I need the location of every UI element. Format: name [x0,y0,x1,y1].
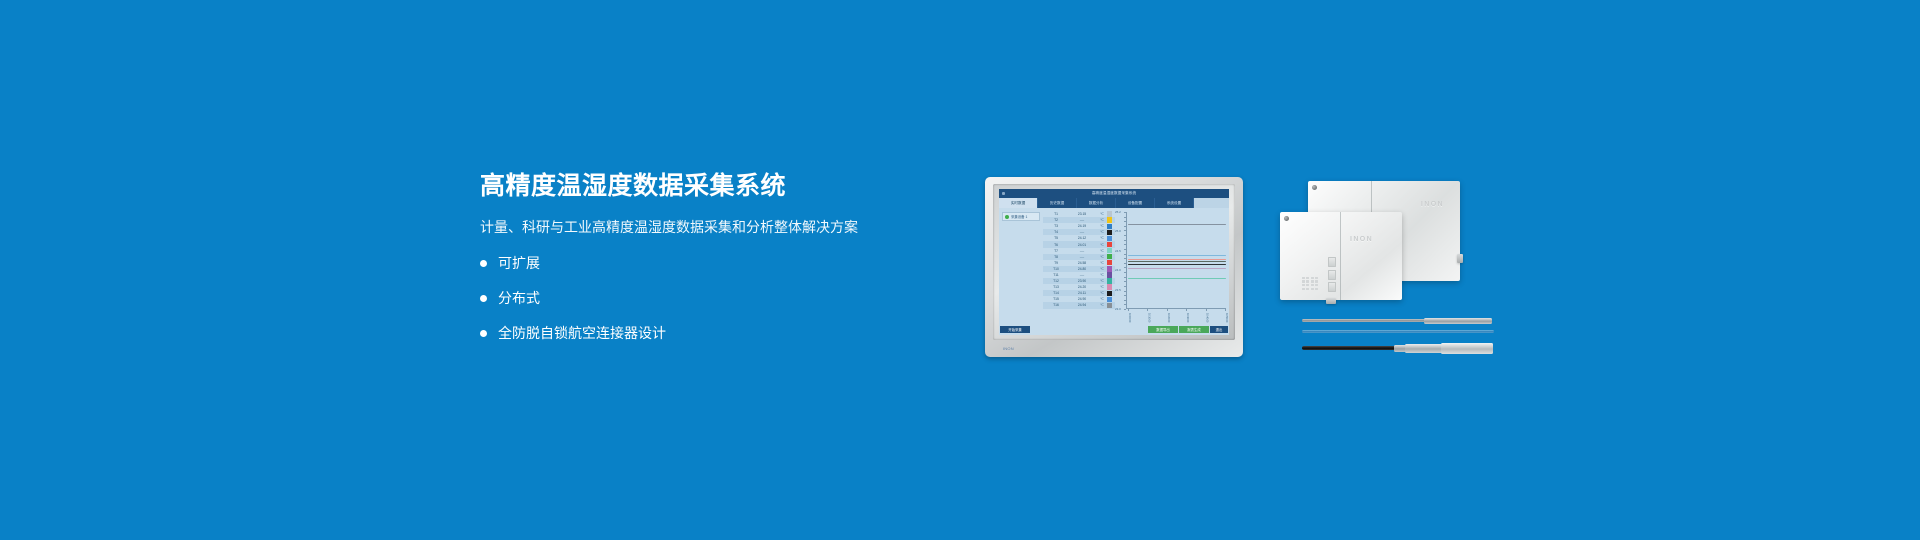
cell-value: 24.11 [1067,291,1097,295]
screw-icon [1312,185,1317,190]
connector-block [1328,270,1336,280]
series-color-swatch [1107,284,1112,289]
chart-y-tick-label: 25.2 [1115,210,1121,214]
series-color-swatch [1107,291,1112,296]
cell-channel: T9 [1045,261,1067,265]
tab-device-config[interactable]: 设备配置 [1116,198,1155,208]
cell-value: 24.94 [1067,303,1097,307]
vent-cell [1302,284,1305,286]
cell-value: 24.12 [1067,236,1097,240]
monitor-foot: INON [995,343,1233,354]
app-titlebar: 高精度温湿度数据采集系统 [999,189,1229,198]
vent-cell [1315,280,1318,282]
cell-unit: ℃ [1097,273,1107,277]
probe-connector [1405,344,1443,353]
cell-unit: ℃ [1097,243,1107,247]
tab-realtime-data[interactable]: 实时数据 [999,198,1038,208]
brand-logo: INON [1003,346,1014,351]
device-tree-panel: 采集设备 1 [999,208,1043,324]
series-color-swatch [1107,217,1112,222]
probe-cable [1302,346,1398,350]
cell-unit: ℃ [1097,236,1107,240]
probe-cable [1302,319,1430,322]
chart-y-tick-label: 24.0 [1115,268,1121,272]
tab-label: 数据分析 [1089,201,1103,206]
cell-unit: ℃ [1097,249,1107,253]
generate-report-button[interactable]: 报表生成 [1179,326,1209,334]
cell-value: 24.19 [1067,224,1097,228]
cell-value: ---- [1067,255,1097,259]
chart-y-axis [1126,212,1127,309]
cell-value: 23.90 [1067,279,1097,283]
app-footer: 开始采集 数据导出 报表生成 退出 [999,324,1229,335]
cell-channel: T8 [1045,255,1067,259]
page-title: 高精度温湿度数据采集系统 [480,173,950,201]
chart-series-line [1128,268,1226,269]
chart-y-tick-mark [1124,304,1127,305]
probe-tip [1424,318,1492,324]
screw-icon [1284,216,1289,221]
cell-unit: ℃ [1097,230,1107,234]
chart-x-tick-mark [1167,309,1168,311]
cell-unit: ℃ [1097,285,1107,289]
chart-y-tick-mark [1124,235,1127,236]
chart-x-tick-mark [1186,309,1187,311]
module-brand-label: INON [1421,201,1444,208]
vent-cell [1311,288,1314,290]
cell-unit: ℃ [1097,297,1107,301]
cell-channel: T16 [1045,303,1067,307]
cell-unit: ℃ [1097,291,1107,295]
cell-channel: T14 [1045,291,1067,295]
button-label: 开始采集 [1008,327,1022,332]
module-connector-port [1326,298,1336,304]
cell-unit: ℃ [1097,303,1107,307]
cell-channel: T4 [1045,230,1067,234]
probe-black [1302,342,1494,354]
panel-pc-product-image: 高精度温湿度数据采集系统 实时数据 历史数据 数据分析 设备配置 [985,177,1243,357]
chart-y-tick-mark [1124,244,1127,245]
app-body: 采集设备 1 T123.15℃T2----℃T324.19℃T4----℃T52… [999,208,1229,324]
chart-y-tick-mark [1124,277,1127,278]
cell-channel: T7 [1045,249,1067,253]
chart-y-tick-label: 24.5 [1115,249,1121,253]
chart-series-line [1128,259,1226,260]
bullet-dot-icon [480,330,487,337]
cell-channel: T5 [1045,236,1067,240]
vent-cell [1311,284,1314,286]
feature-item-0: 可扩展 [480,255,950,272]
cell-channel: T12 [1045,279,1067,283]
export-data-button[interactable]: 数据导出 [1148,326,1178,334]
chart-y-tick-mark [1124,291,1127,292]
chart-x-tick-mark [1225,309,1226,311]
feature-label: 全防脱自锁航空连接器设计 [498,325,666,342]
vent-cell [1315,277,1318,279]
vent-cell [1302,288,1305,290]
probe-housing [1441,343,1493,354]
chart-y-tick-mark [1124,263,1127,264]
tab-label: 实时数据 [1011,201,1025,206]
feature-item-1: 分布式 [480,290,950,307]
series-color-swatch [1107,278,1112,283]
probe-cable [1302,330,1494,333]
tab-label: 历史数据 [1050,201,1064,206]
feature-label: 分布式 [498,290,540,307]
connector-block [1328,282,1336,292]
connector-column [1328,257,1336,292]
button-label: 退出 [1216,327,1223,332]
vent-cell [1315,288,1318,290]
probe-thin-cable [1302,330,1494,334]
series-color-swatch [1107,303,1112,308]
tab-data-analysis[interactable]: 数据分析 [1077,198,1116,208]
cell-channel: T2 [1045,218,1067,222]
cell-unit: ℃ [1097,261,1107,265]
cell-channel: T15 [1045,297,1067,301]
tab-label: 系统设置 [1167,201,1181,206]
vent-cell [1311,277,1314,279]
series-color-swatch [1107,242,1112,247]
app-title: 高精度温湿度数据采集系统 [1092,191,1136,196]
device-tree-item[interactable]: 采集设备 1 [1002,212,1040,221]
cell-unit: ℃ [1097,267,1107,271]
series-color-swatch [1107,266,1112,271]
cell-channel: T11 [1045,273,1067,277]
cell-channel: T1 [1045,212,1067,216]
cell-unit: ℃ [1097,224,1107,228]
series-color-swatch [1107,211,1112,216]
monitor-screen: 高精度温湿度数据采集系统 实时数据 历史数据 数据分析 设备配置 [999,189,1229,335]
page-subtitle: 计量、科研与工业高精度温湿度数据采集和分析整体解决方案 [480,218,950,237]
cell-value: ---- [1067,273,1097,277]
chart-y-tick-mark [1124,249,1127,250]
feature-item-2: 全防脱自锁航空连接器设计 [480,325,950,342]
chart-y-tick-mark [1124,295,1127,296]
app-menu-icon [1002,192,1005,195]
cell-value: 24.58 [1067,261,1097,265]
vent-cell [1311,280,1314,282]
cell-value: 24.20 [1067,285,1097,289]
chart-y-tick-mark [1124,267,1127,268]
tab-history-data[interactable]: 历史数据 [1038,198,1077,208]
chart-x-tick-label: 10:40:00 [1206,313,1210,322]
monitor-bezel: 高精度温湿度数据采集系统 实时数据 历史数据 数据分析 设备配置 [993,184,1235,340]
vent-cell [1306,277,1309,279]
connector-block [1328,257,1336,267]
series-color-swatch [1107,248,1112,253]
vent-cell [1306,284,1309,286]
series-color-swatch [1107,254,1112,259]
chart-x-tick-label: 10:30:00 [1186,313,1190,322]
chart-x-tick-label: 10:00:00 [1128,313,1132,322]
tab-label: 设备配置 [1128,201,1142,206]
cell-value: 24.01 [1067,243,1097,247]
chart-y-tick-label: 23.5 [1115,288,1121,292]
series-color-swatch [1107,224,1112,229]
chart-y-tick-label: 25.0 [1115,229,1121,233]
button-label: 数据导出 [1156,327,1170,332]
vent-grid [1302,277,1318,290]
chart-x-tick-label: 10:20:00 [1167,313,1171,322]
button-label: 报表生成 [1187,327,1201,332]
cell-value: ---- [1067,249,1097,253]
chart-y-tick-mark [1124,300,1127,301]
cell-channel: T13 [1045,285,1067,289]
device-tree-label: 采集设备 1 [1011,214,1027,219]
chart-y-tick-mark [1124,254,1127,255]
bullet-dot-icon [480,295,487,302]
tabbar-filler [1194,198,1229,208]
series-color-swatch [1107,230,1112,235]
chart-x-tick-mark [1128,309,1129,311]
tab-system-settings[interactable]: 系统设置 [1155,198,1194,208]
series-color-swatch [1107,272,1112,277]
cell-channel: T3 [1045,224,1067,228]
cell-unit: ℃ [1097,279,1107,283]
expansion-module: INON [1280,212,1402,300]
start-capture-button[interactable]: 开始采集 [1000,326,1030,334]
module-connector-port [1457,254,1463,263]
chart-y-tick-mark [1124,258,1127,259]
cell-value: 24.80 [1067,267,1097,271]
cell-unit: ℃ [1097,218,1107,222]
vent-cell [1306,280,1309,282]
table-row[interactable]: T1624.94℃ [1043,302,1115,308]
chart-x-tick-label: 10:10:00 [1147,313,1151,322]
trend-chart: 25.225.024.524.023.523.0 10:00:0010:10:0… [1115,208,1229,324]
vent-cell [1315,284,1318,286]
chart-y-tick-mark [1124,309,1127,310]
app-tabbar: 实时数据 历史数据 数据分析 设备配置 系统设置 [999,198,1229,208]
feature-list: 可扩展 分布式 全防脱自锁航空连接器设计 [480,255,950,341]
chart-series-line [1128,261,1226,262]
cell-channel: T10 [1045,267,1067,271]
series-color-swatch [1107,236,1112,241]
vent-cell [1306,288,1309,290]
channel-table: T123.15℃T2----℃T324.19℃T4----℃T524.12℃T6… [1043,208,1115,324]
bullet-dot-icon [480,260,487,267]
chart-series-line [1128,264,1226,265]
chart-y-tick-mark [1124,221,1127,222]
cell-unit: ℃ [1097,212,1107,216]
cell-value: ---- [1067,230,1097,234]
chart-y-tick-mark [1124,230,1127,231]
product-banner: 高精度温湿度数据采集系统 计量、科研与工业高精度温湿度数据采集和分析整体解决方案… [0,0,1920,540]
series-color-swatch [1107,260,1112,265]
cell-value: 24.90 [1067,297,1097,301]
chart-series-line [1128,255,1226,256]
cell-value: ---- [1067,218,1097,222]
chart-series-line [1128,278,1226,279]
chart-y-tick-mark [1124,272,1127,273]
chart-x-tick-mark [1206,309,1207,311]
cell-unit: ℃ [1097,255,1107,259]
cell-channel: T6 [1045,243,1067,247]
cell-value: 23.15 [1067,212,1097,216]
chart-y-tick-mark [1124,286,1127,287]
chart-y-tick-mark [1124,226,1127,227]
series-color-swatch [1107,297,1112,302]
exit-button[interactable]: 退出 [1210,326,1228,334]
module-brand-label: INON [1350,236,1373,243]
chart-x-tick-label: 10:50:00 [1225,313,1229,322]
chart-y-tick-mark [1124,217,1127,218]
chart-y-tick-mark [1124,281,1127,282]
device-status-icon [1005,215,1009,219]
chart-x-tick-mark [1147,309,1148,311]
feature-label: 可扩展 [498,255,540,272]
footer-button-group: 数据导出 报表生成 退出 [1148,326,1228,334]
chart-y-tick-mark [1124,240,1127,241]
chart-plot-area [1128,212,1226,309]
banner-copy: 高精度温湿度数据采集系统 计量、科研与工业高精度温湿度数据采集和分析整体解决方案… [480,173,950,342]
module-seam [1340,212,1341,300]
vent-cell [1302,280,1305,282]
chart-y-tick-label: 23.0 [1115,307,1121,311]
vent-cell [1302,277,1305,279]
chart-y-tick-mark [1124,212,1127,213]
probe-steel [1302,316,1492,325]
chart-series-line [1128,224,1226,225]
